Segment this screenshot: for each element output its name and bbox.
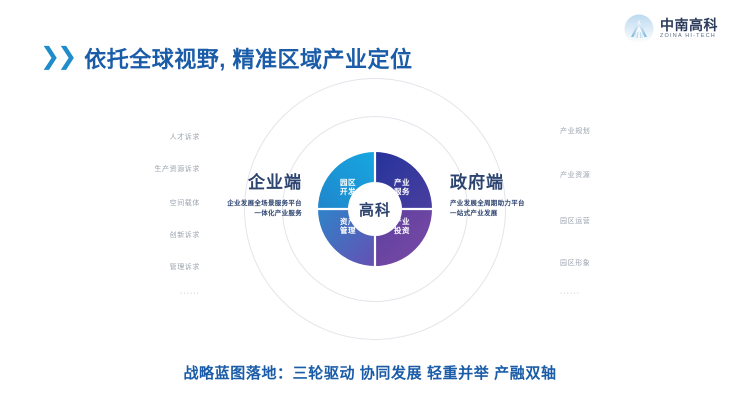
list-item: 产业资源 [560, 172, 590, 179]
donut-label-park-development-line1: 园区 [335, 178, 361, 187]
brand-logo-text: 中南高科 ZOINA HI-TECH [660, 18, 718, 40]
enterprise-side-subtitle-line1: 企业发展全场景服务平台 [128, 199, 302, 210]
donut-label-industry-service-line2: 服务 [389, 187, 415, 196]
government-side-panel: 政府端 产业发展全周期助力平台 一站式产业发展 [450, 174, 624, 220]
core-donut-chart: 园区 开发 产业 服务 资产 管理 产业 投资 高科 [318, 152, 432, 266]
double-chevron-right-icon: ❯❯ [40, 45, 74, 69]
donut-label-industry-investment-line1: 产业 [389, 217, 415, 226]
enterprise-side-panel: 企业端 企业发展全场景服务平台 一体化产业服务 [128, 174, 302, 220]
enterprise-side-title: 企业端 [128, 174, 302, 193]
list-item: 管理诉求 [170, 264, 200, 271]
donut-svg [318, 152, 432, 266]
donut-label-industry-service-line1: 产业 [389, 178, 415, 187]
donut-label-asset-management: 资产 管理 [335, 217, 361, 236]
list-item: 空间载体 [170, 200, 200, 207]
donut-label-asset-management-line1: 资产 [335, 217, 361, 226]
government-side-subtitle-line1: 产业发展全周期助力平台 [450, 199, 624, 210]
footer-slogan: 战略蓝图落地：三轮驱动 协同发展 轻重并举 产融双轴 [0, 362, 740, 383]
donut-label-industry-investment: 产业 投资 [389, 217, 415, 236]
donut-label-park-development-line2: 开发 [335, 187, 361, 196]
donut-label-park-development: 园区 开发 [335, 178, 361, 197]
slide-canvas: 中南高科 ZOINA HI-TECH ❯❯ 依托全球视野, 精准区域产业定位 [0, 0, 740, 416]
enterprise-side-subtitle: 企业发展全场景服务平台 一体化产业服务 [128, 199, 302, 220]
list-item: 产业规划 [560, 128, 590, 135]
donut-label-industry-service: 产业 服务 [389, 178, 415, 197]
list-item: 园区运营 [560, 218, 590, 225]
brand-logo: 中南高科 ZOINA HI-TECH [624, 14, 718, 44]
government-side-title: 政府端 [450, 174, 624, 193]
list-item: 创新诉求 [170, 232, 200, 239]
enterprise-side-subtitle-line2: 一体化产业服务 [128, 209, 302, 220]
donut-label-industry-investment-line2: 投资 [389, 226, 415, 235]
brand-name-en: ZOINA HI-TECH [660, 34, 718, 40]
list-item-ellipsis: ······ [180, 290, 200, 297]
mountain-arch-icon [624, 14, 654, 44]
list-item: 生产资源诉求 [154, 166, 200, 173]
brand-name-cn: 中南高科 [660, 18, 718, 32]
government-side-subtitle-line2: 一站式产业发展 [450, 209, 624, 220]
government-side-subtitle: 产业发展全周期助力平台 一站式产业发展 [450, 199, 624, 220]
list-item: 人才诉求 [170, 134, 200, 141]
list-item: 园区形象 [560, 260, 590, 267]
list-item-ellipsis: ······ [560, 290, 580, 297]
donut-label-asset-management-line2: 管理 [335, 226, 361, 235]
concentric-diagram: 园区 开发 产业 服务 资产 管理 产业 投资 高科 企业端 企业发展全场景服务… [0, 70, 740, 340]
